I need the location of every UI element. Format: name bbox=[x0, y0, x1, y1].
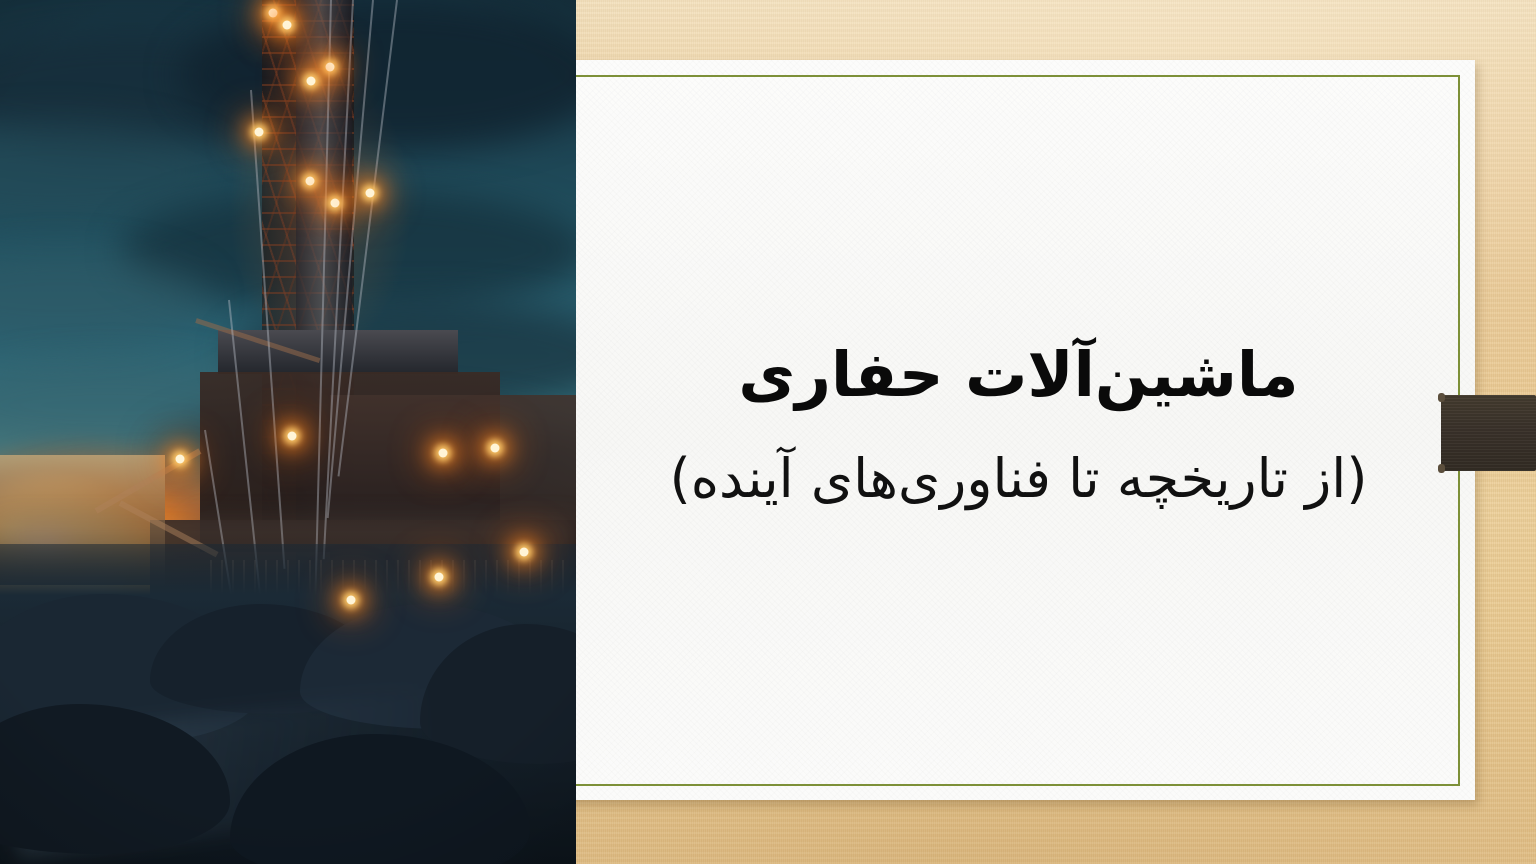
rig-light bbox=[268, 8, 277, 17]
rocky-foreground bbox=[0, 544, 576, 864]
title-block: ماشین‌آلات حفاری (از تاریخچه تا فناوری‌ه… bbox=[576, 60, 1461, 800]
rig-light bbox=[325, 62, 334, 71]
rig-light bbox=[306, 76, 315, 85]
rig-light bbox=[347, 596, 354, 603]
rig-light bbox=[288, 432, 295, 439]
drilling-rig-photo bbox=[0, 0, 576, 864]
slide-title: ماشین‌آلات حفاری bbox=[738, 338, 1298, 411]
slide-subtitle: (از تاریخچه تا فناوری‌های آینده) bbox=[670, 446, 1368, 512]
rig-light bbox=[365, 188, 374, 197]
rig-light bbox=[282, 20, 291, 29]
rig-light bbox=[176, 455, 183, 462]
rig-light bbox=[254, 127, 263, 136]
rig-light bbox=[330, 198, 339, 207]
rig-light bbox=[492, 445, 498, 451]
rig-light bbox=[305, 176, 314, 185]
rig-light bbox=[520, 548, 527, 555]
title-slide: ماشین‌آلات حفاری (از تاریخچه تا فناوری‌ه… bbox=[0, 0, 1536, 864]
rig-light bbox=[440, 450, 446, 456]
rig-light bbox=[435, 573, 442, 580]
